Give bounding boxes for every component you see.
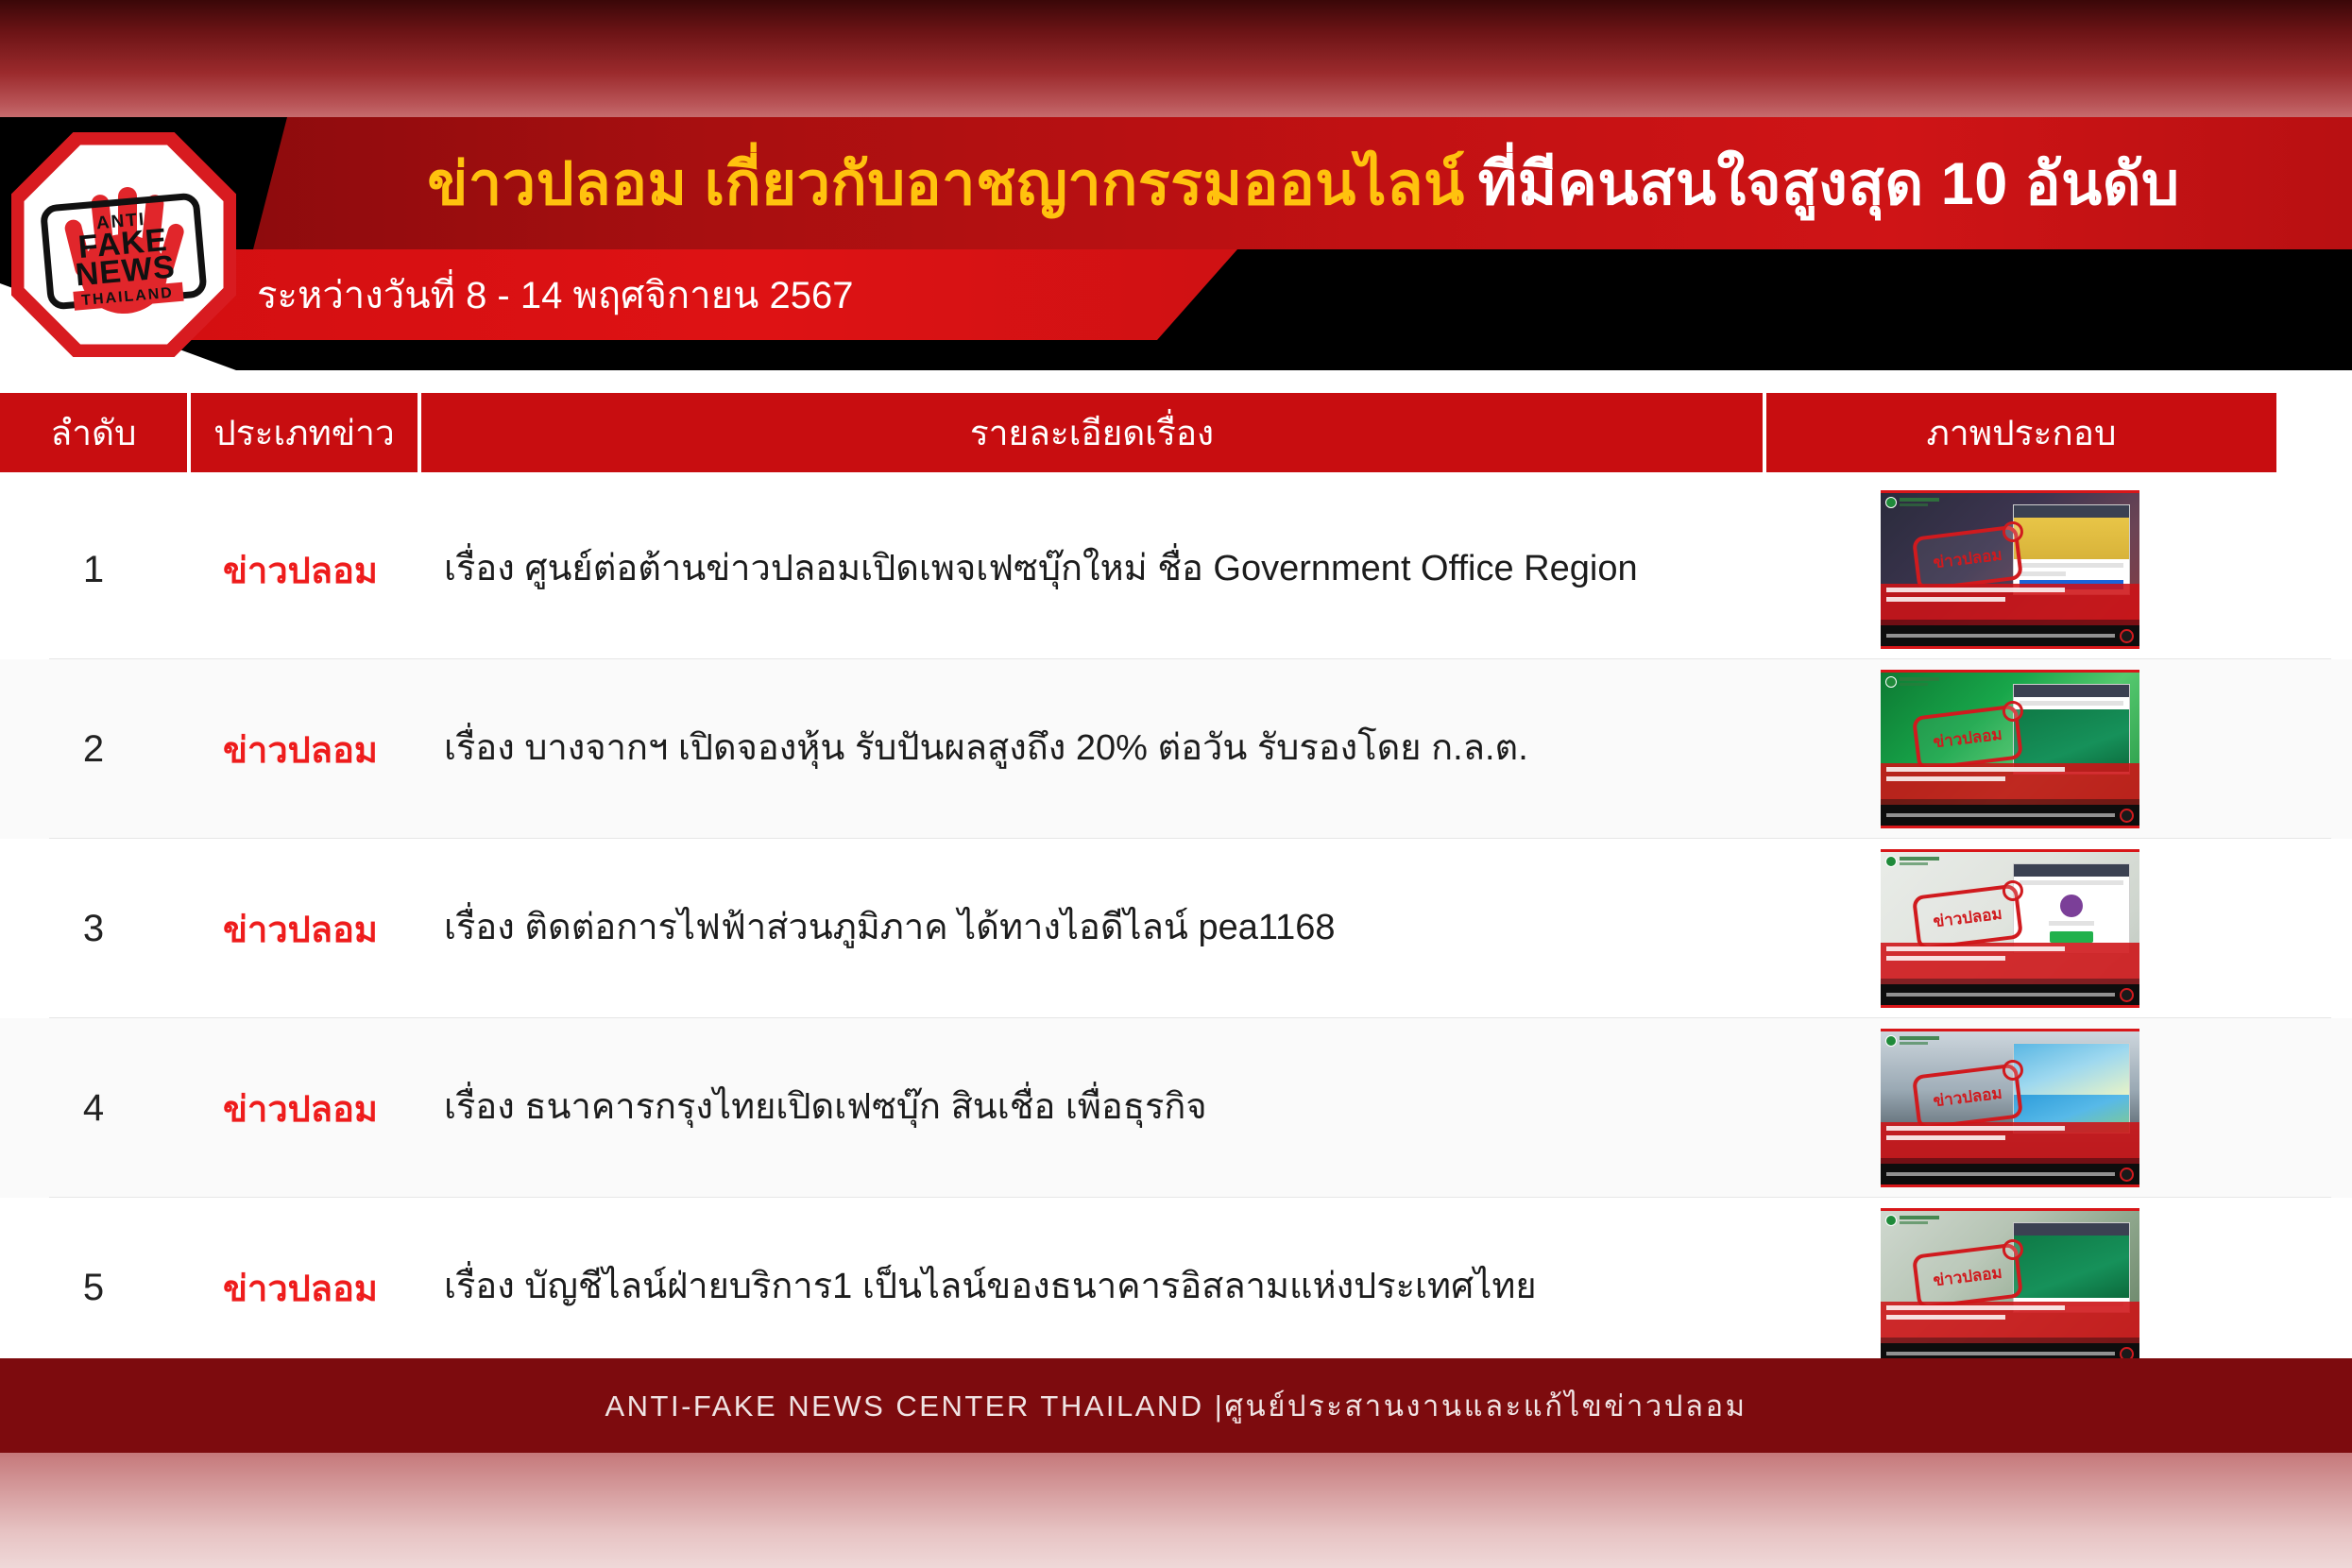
table-row[interactable]: 5ข่าวปลอมเรื่อง บัญชีไลน์ฝ่ายบริการ1 เป็… (0, 1198, 2352, 1377)
column-header-rank: ลำดับ (0, 393, 187, 472)
anti-fake-news-logo: ANTI FAKE NEWS THAILAND (11, 132, 236, 357)
thumbnail-afnc-logo-icon (1885, 1215, 1897, 1226)
column-header-type: ประเภทข่าว (191, 393, 418, 472)
date-range-subtitle: ระหว่างวันที่ 8 - 14 พฤศจิกายน 2567 (257, 249, 853, 340)
cell-detail: เรื่อง บัญชีไลน์ฝ่ายบริการ1 เป็นไลน์ของธ… (414, 1265, 1755, 1310)
footer-line (1886, 813, 2115, 817)
top-gradient-strip (0, 0, 2352, 117)
caption-line (1886, 1305, 2065, 1310)
footer-line (1886, 1172, 2115, 1176)
footer-text: ANTI-FAKE NEWS CENTER THAILAND |ศูนย์ประ… (605, 1382, 1747, 1429)
thumbnail-caption-bar (1881, 763, 2139, 799)
thumbnail-afnc-wordmark (1900, 857, 1939, 861)
thumbnail-inner-screenshot (2013, 1043, 2130, 1133)
cell-thumbnail[interactable]: ข่าวปลอม (1755, 490, 2265, 649)
caption-line (1886, 776, 2005, 781)
cell-detail: เรื่อง ติดต่อการไฟฟ้าส่วนภูมิภาค ได้ทางไ… (414, 906, 1755, 951)
caption-line (1886, 597, 2005, 602)
column-header-detail: รายละเอียดเรื่อง (421, 393, 1763, 472)
thumbnail-afnc-subwordmark (1900, 1221, 1928, 1224)
thumbnail-afnc-wordmark (1900, 677, 1939, 681)
table-row[interactable]: 2ข่าวปลอมเรื่อง บางจากฯ เปิดจองหุ้น รับป… (0, 659, 2352, 839)
cell-detail: เรื่อง บางจากฯ เปิดจองหุ้น รับปันผลสูงถึ… (414, 726, 1755, 772)
thumbnail-caption-bar (1881, 1122, 2139, 1158)
footer-bar: ANTI-FAKE NEWS CENTER THAILAND |ศูนย์ประ… (0, 1358, 2352, 1453)
page-title: ข่าวปลอม เกี่ยวกับอาชญากรรมออนไลน์ ที่มี… (283, 117, 2324, 249)
cell-rank: 2 (0, 728, 187, 771)
thumbnail-afnc-wordmark (1900, 498, 1939, 502)
thumbnail-afnc-wordmark (1900, 1216, 1939, 1219)
news-thumbnail[interactable]: ข่าวปลอม (1881, 1208, 2139, 1367)
cell-detail: เรื่อง ธนาคารกรุงไทยเปิดเฟซบุ๊ก สินเชื่อ… (414, 1085, 1755, 1131)
thumbnail-footer-bar (1881, 805, 2139, 826)
cell-news-type: ข่าวปลอม (187, 900, 414, 958)
caption-line (1886, 1126, 2065, 1131)
table-header-row: ลำดับ ประเภทข่าว รายละเอียดเรื่อง ภาพประ… (0, 393, 2352, 472)
thumbnail-afnc-subwordmark (1900, 862, 1928, 865)
thumbnail-afnc-logo-icon (1885, 676, 1897, 688)
cell-rank: 4 (0, 1087, 187, 1130)
page-title-secondary: ที่มีคนสนใจสูงสุด 10 อันดับ (1478, 136, 2180, 230)
cell-thumbnail[interactable]: ข่าวปลอม (1755, 849, 2265, 1008)
anti-fake-news-logo-icon: ANTI FAKE NEWS THAILAND (11, 132, 236, 357)
thumbnail-inner-screenshot (2013, 684, 2130, 775)
table-row[interactable]: 3ข่าวปลอมเรื่อง ติดต่อการไฟฟ้าส่วนภูมิภา… (0, 839, 2352, 1018)
footer-logo-icon (2120, 1167, 2134, 1182)
caption-line (1886, 767, 2065, 772)
thumbnail-afnc-logo-icon (1885, 856, 1897, 867)
infographic-page: ข่าวปลอม เกี่ยวกับอาชญากรรมออนไลน์ ที่มี… (0, 0, 2352, 1568)
thumbnail-afnc-wordmark (1900, 1036, 1939, 1040)
page-title-primary: ข่าวปลอม เกี่ยวกับอาชญากรรมออนไลน์ (427, 136, 1464, 230)
cell-thumbnail[interactable]: ข่าวปลอม (1755, 670, 2265, 828)
table-row[interactable]: 1ข่าวปลอมเรื่อง ศูนย์ต่อต้านข่าวปลอมเปิด… (0, 480, 2352, 659)
cell-news-type: ข่าวปลอม (187, 1080, 414, 1137)
thumbnail-footer-bar (1881, 1164, 2139, 1185)
thumbnail-inner-screenshot (2013, 504, 2130, 595)
cell-news-type: ข่าวปลอม (187, 1259, 414, 1317)
footer-logo-icon (2120, 629, 2134, 643)
thumbnail-afnc-logo-icon (1885, 1035, 1897, 1047)
thumbnail-afnc-subwordmark (1900, 1042, 1928, 1045)
thumbnail-afnc-logo-icon (1885, 497, 1897, 508)
thumbnail-afnc-subwordmark (1900, 683, 1928, 686)
table-body: 1ข่าวปลอมเรื่อง ศูนย์ต่อต้านข่าวปลอมเปิด… (0, 480, 2352, 1377)
footer-logo-icon (2120, 809, 2134, 823)
cell-rank: 5 (0, 1267, 187, 1309)
cell-thumbnail[interactable]: ข่าวปลอม (1755, 1208, 2265, 1367)
caption-line (1886, 946, 2065, 951)
cell-rank: 1 (0, 549, 187, 591)
cell-rank: 3 (0, 908, 187, 950)
thumbnail-caption-bar (1881, 1302, 2139, 1338)
caption-line (1886, 956, 2005, 961)
footer-line (1886, 634, 2115, 638)
cell-news-type: ข่าวปลอม (187, 721, 414, 778)
column-header-image: ภาพประกอบ (1766, 393, 2276, 472)
table-row[interactable]: 4ข่าวปลอมเรื่อง ธนาคารกรุงไทยเปิดเฟซบุ๊ก… (0, 1018, 2352, 1198)
thumbnail-afnc-subwordmark (1900, 503, 1928, 506)
cell-thumbnail[interactable]: ข่าวปลอม (1755, 1029, 2265, 1187)
news-thumbnail[interactable]: ข่าวปลอม (1881, 1029, 2139, 1187)
news-thumbnail[interactable]: ข่าวปลอม (1881, 490, 2139, 649)
news-thumbnail[interactable]: ข่าวปลอม (1881, 849, 2139, 1008)
thumbnail-caption-bar (1881, 943, 2139, 979)
cell-news-type: ข่าวปลอม (187, 541, 414, 599)
footer-line (1886, 993, 2115, 997)
bottom-gradient-strip (0, 1453, 2352, 1568)
thumbnail-inner-screenshot (2013, 863, 2130, 954)
news-thumbnail[interactable]: ข่าวปลอม (1881, 670, 2139, 828)
footer-line (1886, 1352, 2115, 1355)
ranking-table: ลำดับ ประเภทข่าว รายละเอียดเรื่อง ภาพประ… (0, 378, 2352, 1398)
thumbnail-footer-bar (1881, 625, 2139, 646)
caption-line (1886, 1315, 2005, 1320)
thumbnail-inner-screenshot (2013, 1222, 2130, 1313)
caption-line (1886, 1135, 2005, 1140)
cell-detail: เรื่อง ศูนย์ต่อต้านข่าวปลอมเปิดเพจเฟซบุ๊… (414, 547, 1755, 592)
thumbnail-footer-bar (1881, 984, 2139, 1005)
footer-logo-icon (2120, 988, 2134, 1002)
caption-line (1886, 588, 2065, 592)
thumbnail-caption-bar (1881, 584, 2139, 620)
